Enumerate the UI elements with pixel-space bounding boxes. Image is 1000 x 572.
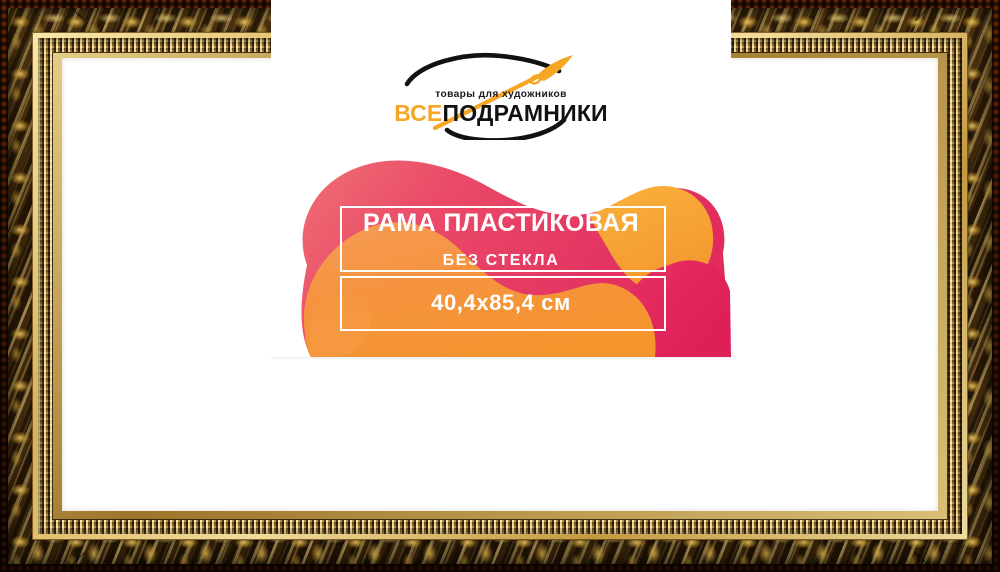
label-card-shadow — [271, 357, 731, 360]
brand-logo-area: товары для художников ВСЕПОДРАМНИКИ — [271, 0, 731, 145]
brand-name-accent: ВСЕ — [394, 100, 442, 126]
brand-name-main: ПОДРАМНИКИ — [442, 100, 607, 126]
product-headline: РАМА ПЛАСТИКОВАЯ — [271, 211, 731, 236]
paintbrush-icon — [529, 55, 573, 85]
decorative-blobs-svg — [271, 145, 731, 357]
product-size: 40,4x85,4 см — [271, 292, 731, 314]
product-subline: БЕЗ СТЕКЛА — [271, 253, 731, 269]
decorative-blob-layer — [271, 145, 731, 357]
product-label-card: товары для художников ВСЕПОДРАМНИКИ — [271, 0, 731, 357]
brand-logo: товары для художников ВСЕПОДРАМНИКИ — [389, 50, 613, 140]
brand-tagline: товары для художников — [435, 89, 567, 100]
brand-logo-svg: товары для художников ВСЕПОДРАМНИКИ — [389, 50, 613, 140]
product-image-stage: товары для художников ВСЕПОДРАМНИКИ — [0, 0, 1000, 572]
brand-wordmark: ВСЕПОДРАМНИКИ — [394, 100, 608, 126]
